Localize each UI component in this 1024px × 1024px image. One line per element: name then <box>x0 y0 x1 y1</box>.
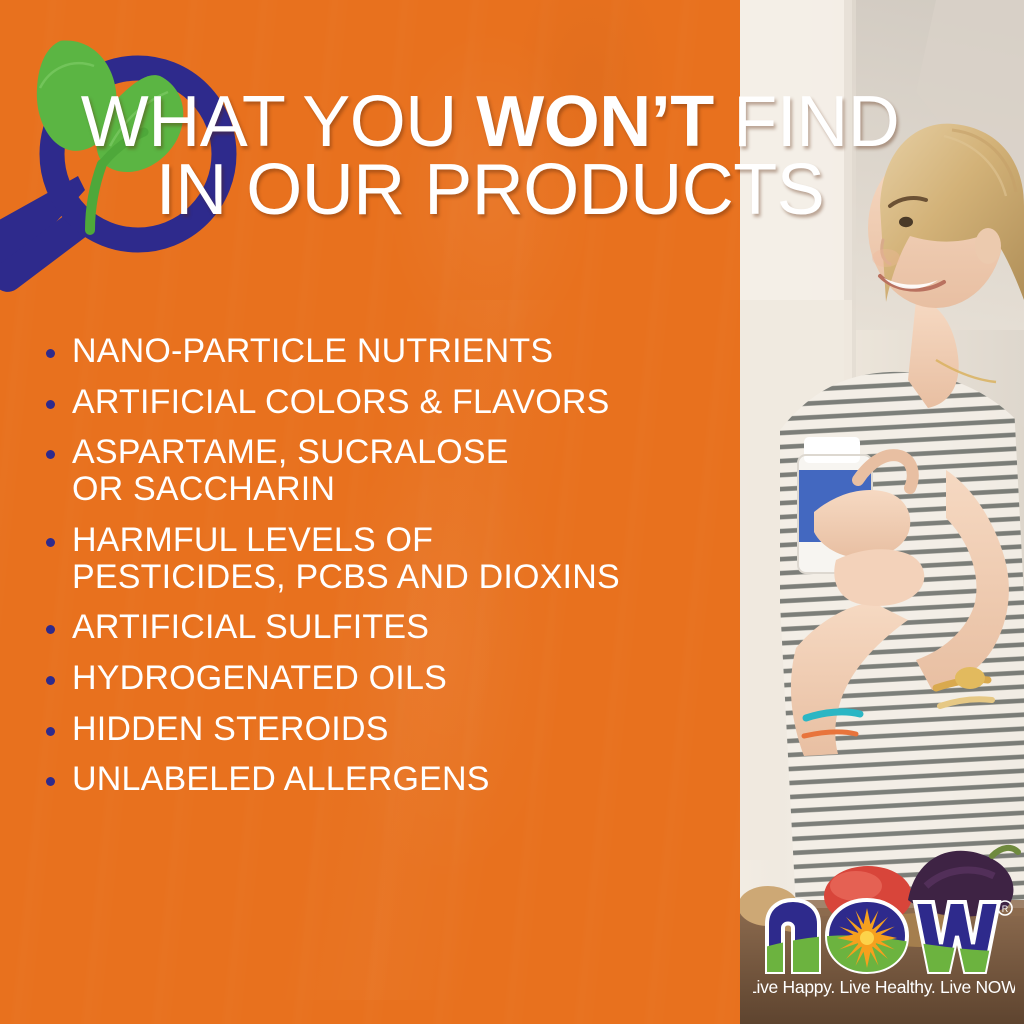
list-item: ASPARTAME, SUCRALOSE OR SACCHARIN <box>46 434 736 507</box>
list-item-label: HYDROGENATED OILS <box>72 660 447 697</box>
list-item: HARMFUL LEVELS OF PESTICIDES, PCBS AND D… <box>46 522 736 595</box>
list-item: HIDDEN STEROIDS <box>46 711 736 748</box>
list-item-label: NANO-PARTICLE NUTRIENTS <box>72 333 553 370</box>
list-item-label: HIDDEN STEROIDS <box>72 711 389 748</box>
list-item: ARTIFICIAL COLORS & FLAVORS <box>46 384 736 421</box>
bullet-dot-icon <box>46 676 55 685</box>
bullet-dot-icon <box>46 400 55 409</box>
list-item: UNLABELED ALLERGENS <box>46 761 736 798</box>
bullet-dot-icon <box>46 625 55 634</box>
bullet-dot-icon <box>46 349 55 358</box>
headline-line-2: IN OUR PRODUCTS <box>0 156 980 224</box>
list-item: HYDROGENATED OILS <box>46 660 736 697</box>
excluded-ingredients-list: NANO-PARTICLE NUTRIENTS ARTIFICIAL COLOR… <box>46 333 736 812</box>
list-item-label: UNLABELED ALLERGENS <box>72 761 490 798</box>
list-item-label: ARTIFICIAL SULFITES <box>72 609 429 646</box>
list-item-label: ASPARTAME, SUCRALOSE OR SACCHARIN <box>72 434 509 507</box>
list-item: NANO-PARTICLE NUTRIENTS <box>46 333 736 370</box>
bullet-dot-icon <box>46 538 55 547</box>
bullet-dot-icon <box>46 727 55 736</box>
list-item-label: HARMFUL LEVELS OF PESTICIDES, PCBS AND D… <box>72 522 620 595</box>
bullet-dot-icon <box>46 777 55 786</box>
headline: WHAT YOU WON’T FIND IN OUR PRODUCTS <box>0 88 980 225</box>
list-item-label: ARTIFICIAL COLORS & FLAVORS <box>72 384 610 421</box>
promo-graphic: WHAT YOU WON’T FIND IN OUR PRODUCTS NANO… <box>0 0 1024 1024</box>
headline-line-1: WHAT YOU WON’T FIND <box>0 88 980 156</box>
list-item: ARTIFICIAL SULFITES <box>46 609 736 646</box>
bullet-dot-icon <box>46 450 55 459</box>
